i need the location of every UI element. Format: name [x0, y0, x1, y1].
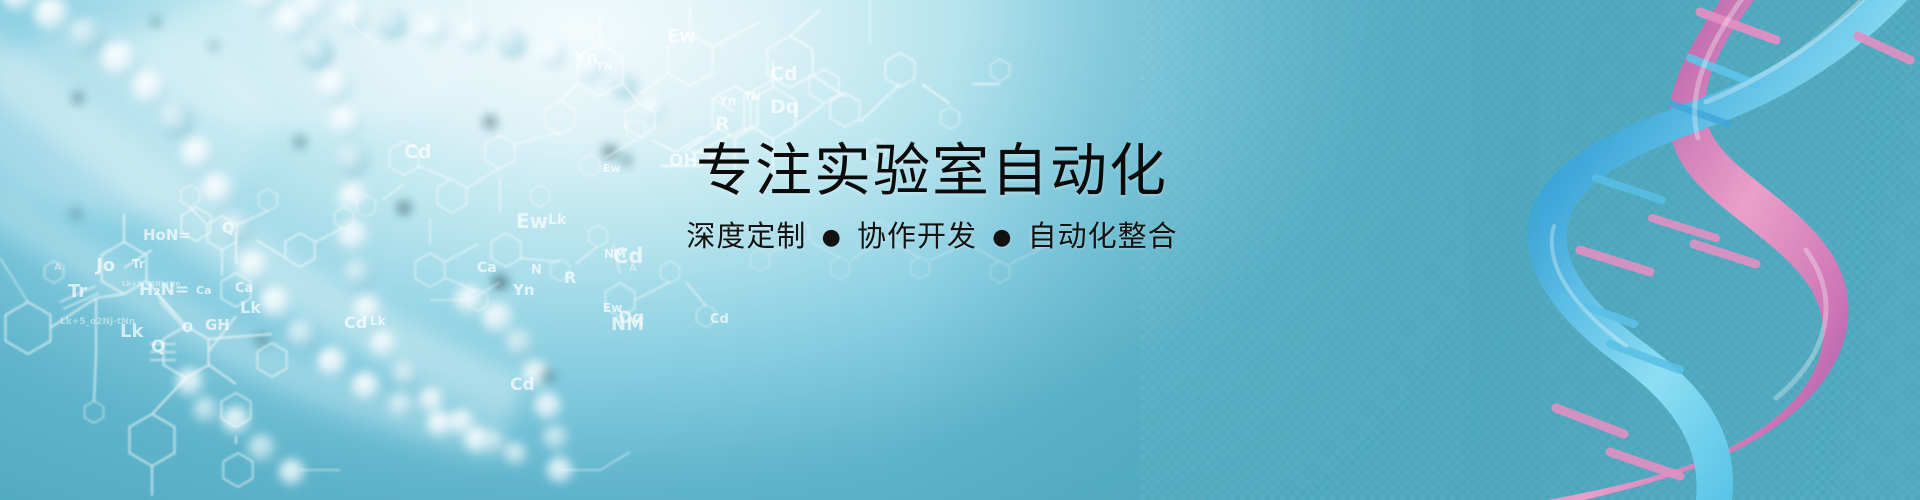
banner-copy: 专注实验室自动化 深度定制 ● 协作开发 ● 自动化整合	[612, 140, 1252, 254]
bullet-separator-icon: ●	[987, 225, 1017, 250]
halftone-pattern	[1140, 0, 1920, 500]
subtitle-item-1: 深度定制	[686, 219, 806, 253]
banner-subtitle: 深度定制 ● 协作开发 ● 自动化整合	[612, 218, 1252, 254]
subtitle-item-2: 协作开发	[857, 219, 977, 253]
bullet-separator-icon: ●	[817, 225, 847, 250]
hero-banner: CdCdCdCdCdCdEwEwEwEwYnYnYnNMNMRRQQDqDqLk…	[0, 0, 1920, 500]
subtitle-item-3: 自动化整合	[1028, 219, 1178, 253]
banner-headline: 专注实验室自动化	[612, 140, 1252, 204]
